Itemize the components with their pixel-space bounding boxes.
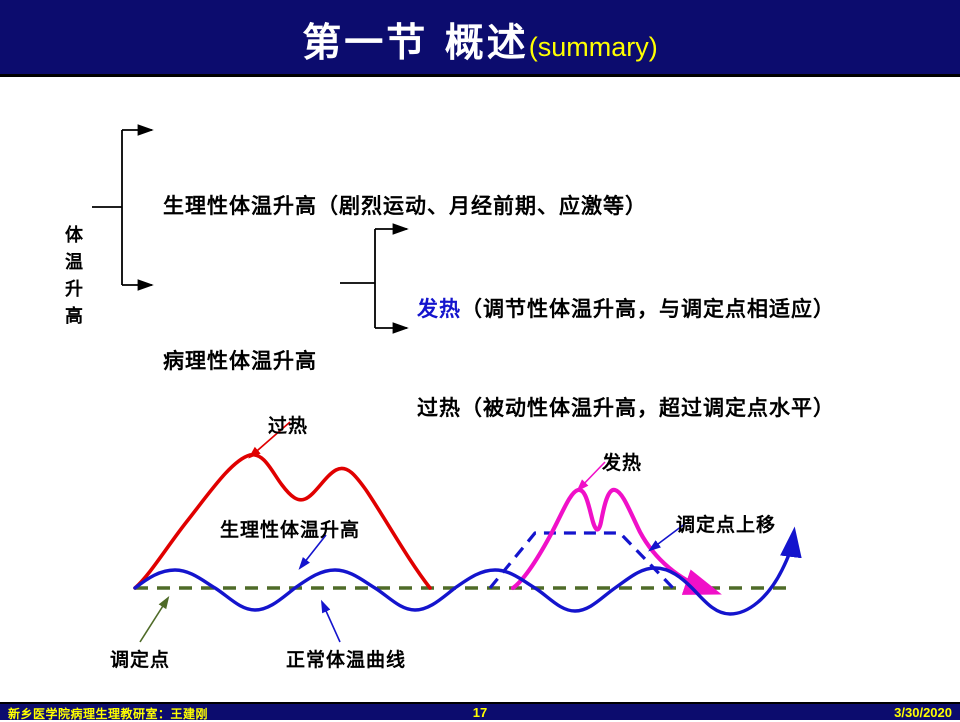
- slide-footer: 新乡医学院病理生理教研室：王建刚 17 3/30/2020: [0, 702, 960, 720]
- footer-page-number: 17: [0, 705, 960, 720]
- flow-root-label: 体温升高: [57, 222, 91, 330]
- flow-branch-pathological: 病理性体温升高: [163, 345, 317, 375]
- fever-annotation-arrow: [578, 462, 605, 490]
- bracket-level-2: [340, 229, 407, 328]
- flow-diagram: 体温升高 生理性体温升高（剧烈运动、月经前期、应激等） 病理性体温升高 发热（调…: [0, 77, 960, 377]
- footer-date: 3/30/2020: [894, 705, 952, 720]
- temperature-curve-chart: 过热 生理性体温升高 发热 调定点上移 调定点 正常体温曲线: [0, 380, 960, 698]
- normal-temperature-curve: [135, 540, 793, 614]
- flow-branch-fever-accent: 发热: [417, 296, 461, 321]
- slide-title-en: (summary): [529, 32, 658, 62]
- normal-curve-annotation-arrow: [322, 602, 340, 642]
- slide-title-bar: 第一节 概述(summary): [0, 0, 960, 77]
- label-normal-curve: 正常体温曲线: [286, 645, 406, 672]
- setpoint-annotation-arrow: [140, 598, 168, 642]
- label-physiological-rise: 生理性体温升高: [220, 515, 360, 542]
- flow-branch-physiological: 生理性体温升高（剧烈运动、月经前期、应激等）: [163, 190, 647, 220]
- label-overheating: 过热: [268, 411, 308, 438]
- label-setpoint-elevated: 调定点上移: [676, 510, 776, 537]
- flow-connectors: [0, 77, 960, 377]
- label-setpoint: 调定点: [110, 645, 170, 672]
- slide-title-cn: 第一节 概述: [302, 20, 529, 66]
- label-fever: 发热: [602, 448, 642, 475]
- bracket-level-1: [92, 130, 152, 285]
- slide-title: 第一节 概述(summary): [0, 12, 960, 68]
- flow-branch-fever-rest: （调节性体温升高，与调定点相适应）: [461, 296, 835, 321]
- flow-branch-fever: 发热（调节性体温升高，与调定点相适应）: [417, 293, 835, 323]
